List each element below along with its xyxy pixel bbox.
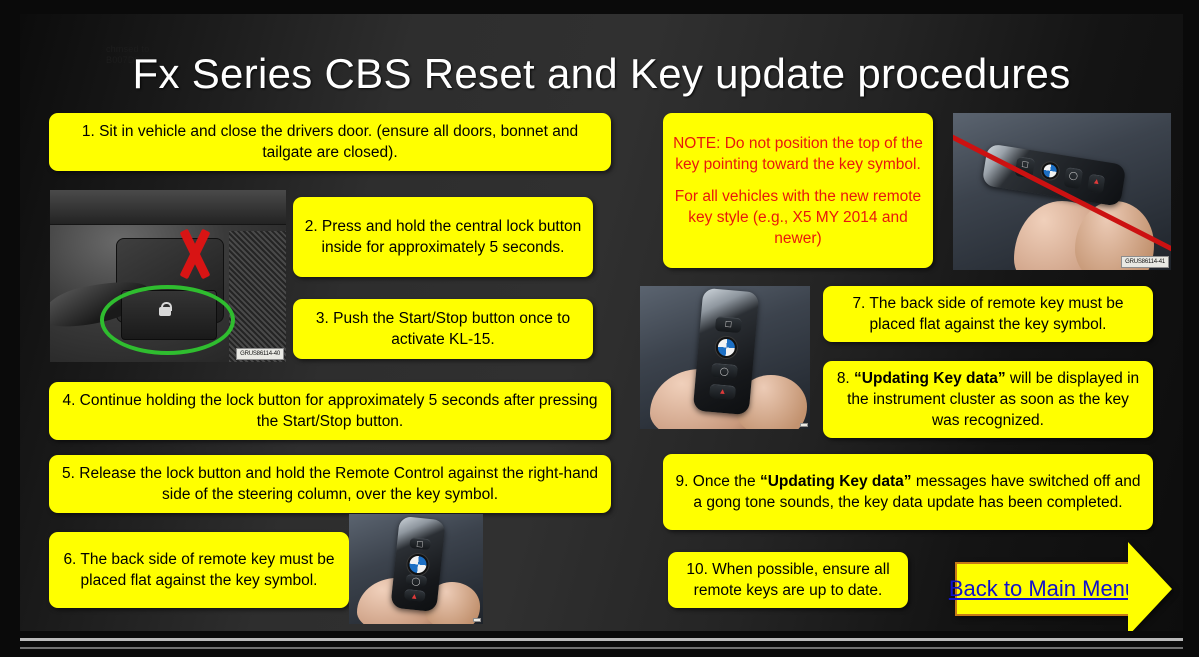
remote-key-fob: ☐ ◯ ▲ [693,288,760,415]
step-9-quoted: “Updating Key data” [760,473,912,490]
key-wrong-orientation-photo: ☐ ◯ ▲ GRUS86114-41 [953,113,1171,270]
trunk-button: ☐ [408,538,430,551]
step-3-text: 3. Push the Start/Stop button once to ac… [303,308,583,350]
key-back-side-photo-2: ☐ ◯ ▲ [349,514,483,624]
step-10-text: 10. When possible, ensure all remote key… [678,559,898,601]
unlock-button: ◯ [711,363,738,380]
step-5-callout: 5. Release the lock button and hold the … [49,455,611,513]
step-7-callout: 7. The back side of remote key must be p… [823,286,1153,342]
photo-caption: GRUS86114-40 [236,348,284,360]
panic-button: ▲ [403,589,425,602]
trunk-icon: ☐ [1015,159,1034,170]
note-line-2: For all vehicles with the new remote key… [673,186,923,249]
panic-button: ▲ [709,384,736,401]
photo-caption [800,423,808,427]
unlock-icon: ◯ [711,367,737,377]
arrow-shaft[interactable]: Back to Main Menu [955,562,1129,617]
bmw-logo-icon [1040,161,1059,180]
door-speaker-grille [229,231,286,362]
step-9-callout: 9. Once the “Updating Key data” messages… [663,454,1153,530]
step-1-callout: 1. Sit in vehicle and close the drivers … [49,113,611,171]
bmw-logo-icon [406,553,429,576]
photo-caption-2 [473,618,481,622]
panic-icon: ▲ [1087,177,1105,188]
slide-root: chmsed to B007D6 Fx Series CBS Reset and… [0,0,1199,657]
step-2-text: 2. Press and hold the central lock butto… [303,216,583,258]
step-1-text: 1. Sit in vehicle and close the drivers … [59,121,601,163]
step-9-prefix: 9. Once the [676,473,760,490]
note-callout: NOTE: Do not position the top of the key… [663,113,933,268]
footer-divider-2 [20,647,1183,649]
step-2-callout: 2. Press and hold the central lock butto… [293,197,593,277]
trunk-icon: ☐ [715,320,741,330]
arrow-head-icon[interactable] [1128,542,1172,631]
step-8-quoted: “Updating Key data” [854,370,1006,387]
step-8-text: 8. “Updating Key data” will be displayed… [833,368,1143,431]
step-4-callout: 4. Continue holding the lock button for … [49,382,611,440]
step-6-callout: 6. The back side of remote key must be p… [49,532,349,608]
unlock-icon: ◯ [1064,171,1082,182]
step-5-text: 5. Release the lock button and hold the … [59,463,601,505]
step-3-callout: 3. Push the Start/Stop button once to ac… [293,299,593,359]
panic-button: ▲ [1086,174,1105,194]
trunk-button: ☐ [1014,155,1035,178]
step-9-text: 9. Once the “Updating Key data” messages… [673,471,1143,513]
footer-divider [20,638,1183,641]
step-7-text: 7. The back side of remote key must be p… [833,293,1143,335]
photo-caption: GRUS86114-41 [1121,256,1169,268]
red-x-marker-icon [173,228,217,280]
door-lock-panel-photo: GRUS86114-40 [50,190,286,362]
unlock-button: ◯ [405,575,427,588]
step-6-text: 6. The back side of remote key must be p… [59,549,339,591]
unlock-icon: ◯ [405,577,427,587]
note-line-1: NOTE: Do not position the top of the key… [673,133,923,175]
page-title: Fx Series CBS Reset and Key update proce… [20,50,1183,98]
step-10-callout: 10. When possible, ensure all remote key… [668,552,908,608]
slide-stage: chmsed to B007D6 Fx Series CBS Reset and… [20,14,1183,631]
door-trim [50,190,286,225]
green-highlight-ellipse [100,285,235,355]
panic-icon: ▲ [709,387,735,397]
unlock-button: ◯ [1063,167,1083,189]
bmw-logo-icon [715,336,738,359]
step-8-prefix: 8. [837,370,854,387]
step-8-callout: 8. “Updating Key data” will be displayed… [823,361,1153,438]
trunk-icon: ☐ [408,541,430,551]
trunk-button: ☐ [715,316,742,333]
back-to-main-menu-button[interactable]: Back to Main Menu [955,542,1173,631]
step-4-text: 4. Continue holding the lock button for … [59,390,601,432]
panic-icon: ▲ [403,592,425,602]
back-to-main-menu-label[interactable]: Back to Main Menu [939,576,1147,602]
remote-key-fob: ☐ ◯ ▲ [981,143,1125,207]
key-back-side-photo: ☐ ◯ ▲ [640,286,810,429]
remote-key-fob: ☐ ◯ ▲ [390,516,445,613]
